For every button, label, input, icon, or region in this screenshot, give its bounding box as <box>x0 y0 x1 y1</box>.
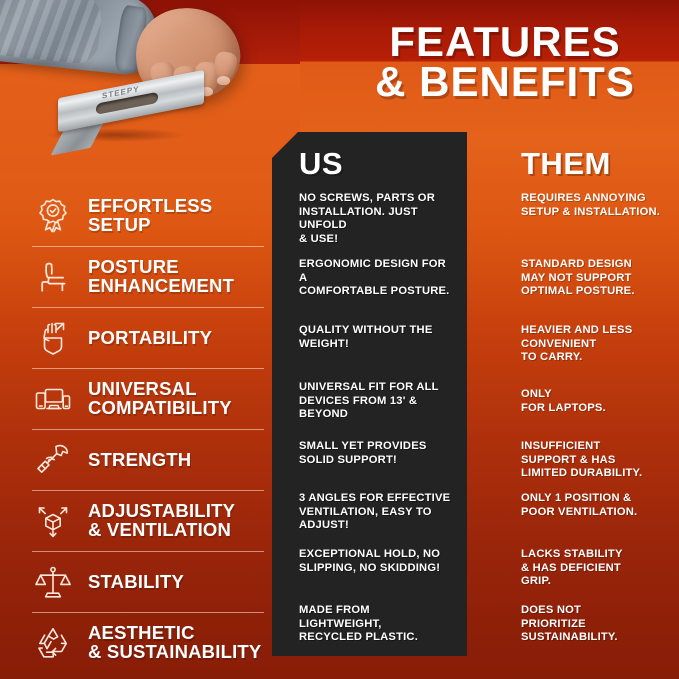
feature-label: AESTHETIC& SUSTAINABILITY <box>88 624 261 662</box>
feature-item-aesthetic-sustainability: AESTHETIC& SUSTAINABILITY <box>32 612 264 673</box>
feature-label: ADJUSTABILITY& VENTILATION <box>88 502 235 540</box>
feature-label: UNIVERSALCOMPATIBILITY <box>88 380 232 418</box>
feature-label: STABILITY <box>88 573 184 592</box>
us-column-heading: US <box>299 146 343 182</box>
us-row: 3 ANGLES FOR EFFECTIVEVENTILATION, EASY … <box>299 492 450 533</box>
them-row: INSUFFICIENTSUPPORT & HASLIMITED DURABIL… <box>521 440 642 481</box>
recycle-icon <box>32 622 74 664</box>
cube-arrows-icon <box>32 500 74 542</box>
feature-label: POSTUREENHANCEMENT <box>88 258 234 296</box>
them-row: HEAVIER AND LESSCONVENIENTTO CARRY. <box>521 324 632 365</box>
feature-item-posture-enhancement: POSTUREENHANCEMENT <box>32 246 264 307</box>
ergonomic-chair-icon <box>32 256 74 298</box>
fingernail <box>217 76 230 85</box>
feature-item-stability: STABILITY <box>32 551 264 612</box>
product-photo: STEEPY <box>0 0 300 172</box>
us-row: SMALL YET PROVIDESSOLID SUPPORT! <box>299 440 427 467</box>
feature-label: STRENGTH <box>88 451 191 470</box>
them-row: REQUIRES ANNOYINGSETUP & INSTALLATION. <box>521 192 660 219</box>
hammer-icon <box>32 439 74 481</box>
feature-label: PORTABILITY <box>88 329 212 348</box>
them-row: ONLY 1 POSITION &POOR VENTILATION. <box>521 492 637 519</box>
page-title: FEATURES & BENEFITS <box>340 22 670 103</box>
infographic-page: STEEPY FEATURES & BENEFITS EFFORTLESSSET… <box>0 0 679 679</box>
feature-label: EFFORTLESSSETUP <box>88 197 212 235</box>
sleeve-folds <box>0 0 104 65</box>
them-column-heading: THEM <box>521 146 611 182</box>
feature-item-adjustability-ventilation: ADJUSTABILITY& VENTILATION <box>32 490 264 551</box>
feature-item-portability: PORTABILITY <box>32 307 264 368</box>
title-line-2: & BENEFITS <box>340 62 670 102</box>
us-row: EXCEPTIONAL HOLD, NOSLIPPING, NO SKIDDIN… <box>299 548 440 575</box>
them-row: DOES NOTPRIORITIZESUSTAINABILITY. <box>521 604 618 645</box>
balance-scale-icon <box>32 561 74 603</box>
award-ribbon-icon <box>32 195 74 237</box>
us-row: UNIVERSAL FIT FOR ALLDEVICES FROM 13' &B… <box>299 381 439 422</box>
us-row: MADE FROM LIGHTWEIGHT,RECYCLED PLASTIC. <box>299 604 454 645</box>
us-row: QUALITY WITHOUT THEWEIGHT! <box>299 324 432 351</box>
us-row: ERGONOMIC DESIGN FOR ACOMFORTABLE POSTUR… <box>299 258 454 299</box>
feature-item-universal-compatibility: UNIVERSALCOMPATIBILITY <box>32 368 264 429</box>
feature-list: EFFORTLESSSETUP POSTUREENHANCEMENT <box>32 186 264 673</box>
them-row: LACKS STABILITY& HAS DEFICIENTGRIP. <box>521 548 623 589</box>
them-row: STANDARD DESIGNMAY NOT SUPPORTOPTIMAL PO… <box>521 258 635 299</box>
multi-device-icon <box>32 378 74 420</box>
them-row: ONLYFOR LAPTOPS. <box>521 388 606 415</box>
us-row: NO SCREWS, PARTS ORINSTALLATION. JUST UN… <box>299 192 454 247</box>
pocket-hand-icon <box>32 317 74 359</box>
feature-item-effortless-setup: EFFORTLESSSETUP <box>32 186 264 246</box>
feature-item-strength: STRENGTH <box>32 429 264 490</box>
